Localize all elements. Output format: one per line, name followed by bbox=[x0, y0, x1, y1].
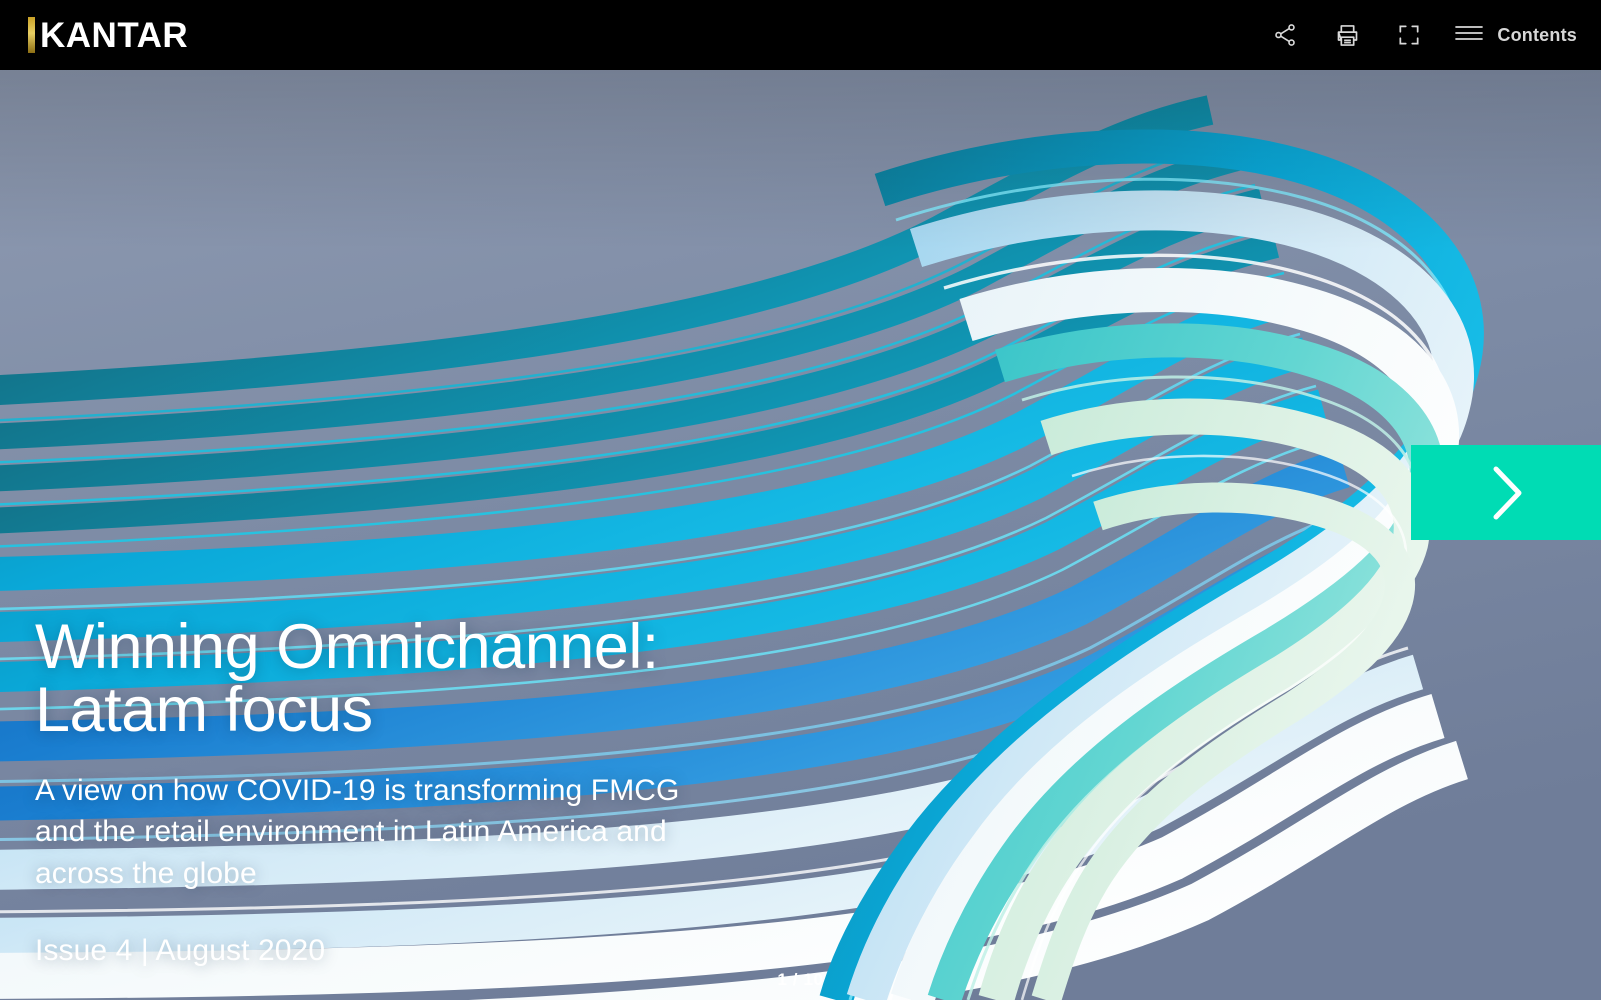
fullscreen-icon bbox=[1396, 22, 1422, 48]
hamburger-menu-icon bbox=[1453, 21, 1485, 50]
kantar-wordmark: KANTAR bbox=[40, 18, 188, 53]
kantar-logo[interactable]: KANTAR bbox=[0, 0, 188, 70]
top-bar: KANTAR bbox=[0, 0, 1601, 70]
print-icon bbox=[1334, 22, 1361, 49]
fullscreen-button[interactable] bbox=[1391, 17, 1427, 53]
page-subtitle: A view on how COVID-19 is transforming F… bbox=[35, 770, 680, 894]
issue-line: Issue 4 | August 2020 bbox=[35, 934, 680, 968]
kantar-accent-bar bbox=[28, 17, 35, 53]
chevron-right-icon bbox=[1479, 457, 1533, 529]
top-nav-actions: Contents bbox=[1267, 17, 1601, 53]
next-page-button[interactable] bbox=[1411, 445, 1601, 540]
print-button[interactable] bbox=[1329, 17, 1365, 53]
contents-label: Contents bbox=[1497, 25, 1577, 46]
page-indicator: 1 / 10 bbox=[0, 970, 1601, 990]
slide-page: Winning Omnichannel: Latam focus A view … bbox=[0, 70, 1601, 1000]
page-title: Winning Omnichannel: Latam focus bbox=[35, 616, 680, 742]
share-icon bbox=[1272, 22, 1298, 48]
contents-button[interactable]: Contents bbox=[1453, 21, 1577, 50]
cover-copy: Winning Omnichannel: Latam focus A view … bbox=[35, 616, 680, 968]
share-button[interactable] bbox=[1267, 17, 1303, 53]
